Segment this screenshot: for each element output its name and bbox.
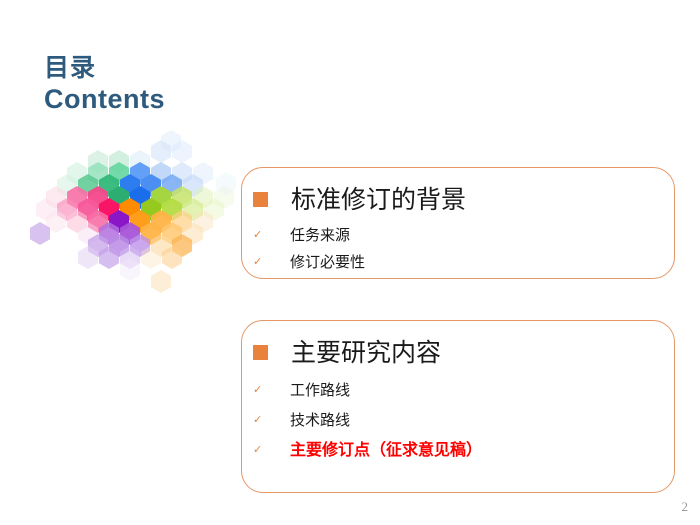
check-icon: ✓ [253, 257, 269, 268]
box-2-heading-row: 主要研究内容 [253, 340, 441, 365]
title-chinese: 目录 [44, 56, 165, 81]
list-item[interactable]: ✓ 修订必要性 [253, 255, 365, 270]
list-item-highlighted[interactable]: ✓ 主要修订点（征求意见稿） [253, 442, 482, 458]
list-item-label: 修订必要性 [290, 255, 365, 270]
page-title: 目录 Contents [44, 56, 165, 113]
hexagon-cluster-icon [30, 128, 240, 298]
list-item[interactable]: ✓ 任务来源 [253, 228, 350, 243]
box-2-heading: 主要研究内容 [291, 340, 441, 365]
title-english: Contents [44, 86, 165, 113]
list-item[interactable]: ✓ 技术路线 [253, 413, 350, 428]
list-item[interactable]: ✓ 工作路线 [253, 383, 350, 398]
content-box-2[interactable]: 主要研究内容 ✓ 工作路线 ✓ 技术路线 ✓ 主要修订点（征求意见稿） [241, 320, 675, 493]
list-item-label: 任务来源 [290, 228, 350, 243]
box-1-heading: 标准修订的背景 [291, 187, 466, 212]
check-icon: ✓ [253, 385, 269, 396]
page-number: 2 [682, 499, 689, 515]
list-item-label: 技术路线 [290, 413, 350, 428]
content-box-1[interactable]: 标准修订的背景 ✓ 任务来源 ✓ 修订必要性 [241, 167, 675, 279]
list-item-label: 工作路线 [290, 383, 350, 398]
check-icon: ✓ [253, 230, 269, 241]
box-1-heading-row: 标准修订的背景 [253, 187, 466, 212]
check-icon: ✓ [253, 445, 269, 456]
slide-canvas: 目录 Contents [0, 0, 700, 525]
square-bullet-icon [253, 192, 268, 207]
list-item-label: 主要修订点（征求意见稿） [290, 442, 482, 458]
check-icon: ✓ [253, 415, 269, 426]
square-bullet-icon [253, 345, 268, 360]
